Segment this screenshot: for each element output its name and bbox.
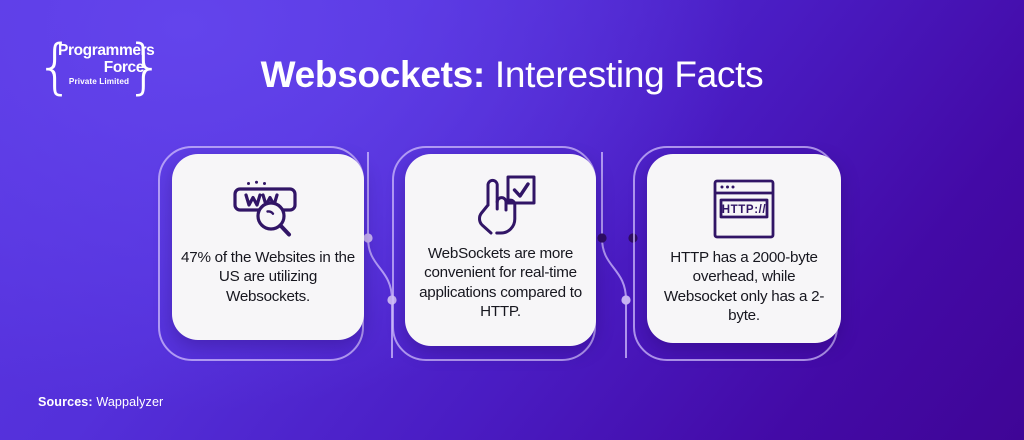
http-browser-window-icon: HTTP:// (711, 176, 777, 242)
pointing-hand-checkbox-icon (464, 176, 538, 242)
fact-card-2[interactable]: WebSockets are more convenient for real-… (392, 146, 620, 361)
sources-label: Sources: (38, 395, 93, 409)
card-text-3: HTTP has a 2000-byte overhead, while Web… (647, 248, 841, 326)
page-title-light: Interesting Facts (495, 54, 763, 95)
card-body-1: 47% of the Websites in the US are utiliz… (172, 154, 364, 340)
sources-value: Wappalyzer (96, 395, 163, 409)
http-icon-label: HTTP:// (722, 204, 767, 216)
sources-note: Sources: Wappalyzer (38, 394, 163, 410)
page-title-strong: Websockets: (261, 54, 485, 95)
infographic-canvas: { } Programmers Force Private Limited We… (0, 0, 1024, 440)
card-body-3: HTTP:// HTTP has a 2000-byte overhead, w… (647, 154, 841, 343)
card-body-2: WebSockets are more convenient for real-… (405, 154, 596, 346)
www-search-bar-icon (225, 176, 311, 242)
card-text-1: 47% of the Websites in the US are utiliz… (172, 248, 364, 306)
fact-card-1[interactable]: 47% of the Websites in the US are utiliz… (158, 146, 386, 361)
fact-card-3[interactable]: HTTP:// HTTP has a 2000-byte overhead, w… (625, 146, 857, 361)
card-text-2: WebSockets are more convenient for real-… (405, 244, 596, 322)
page-title: Websockets: Interesting Facts (0, 52, 1024, 98)
